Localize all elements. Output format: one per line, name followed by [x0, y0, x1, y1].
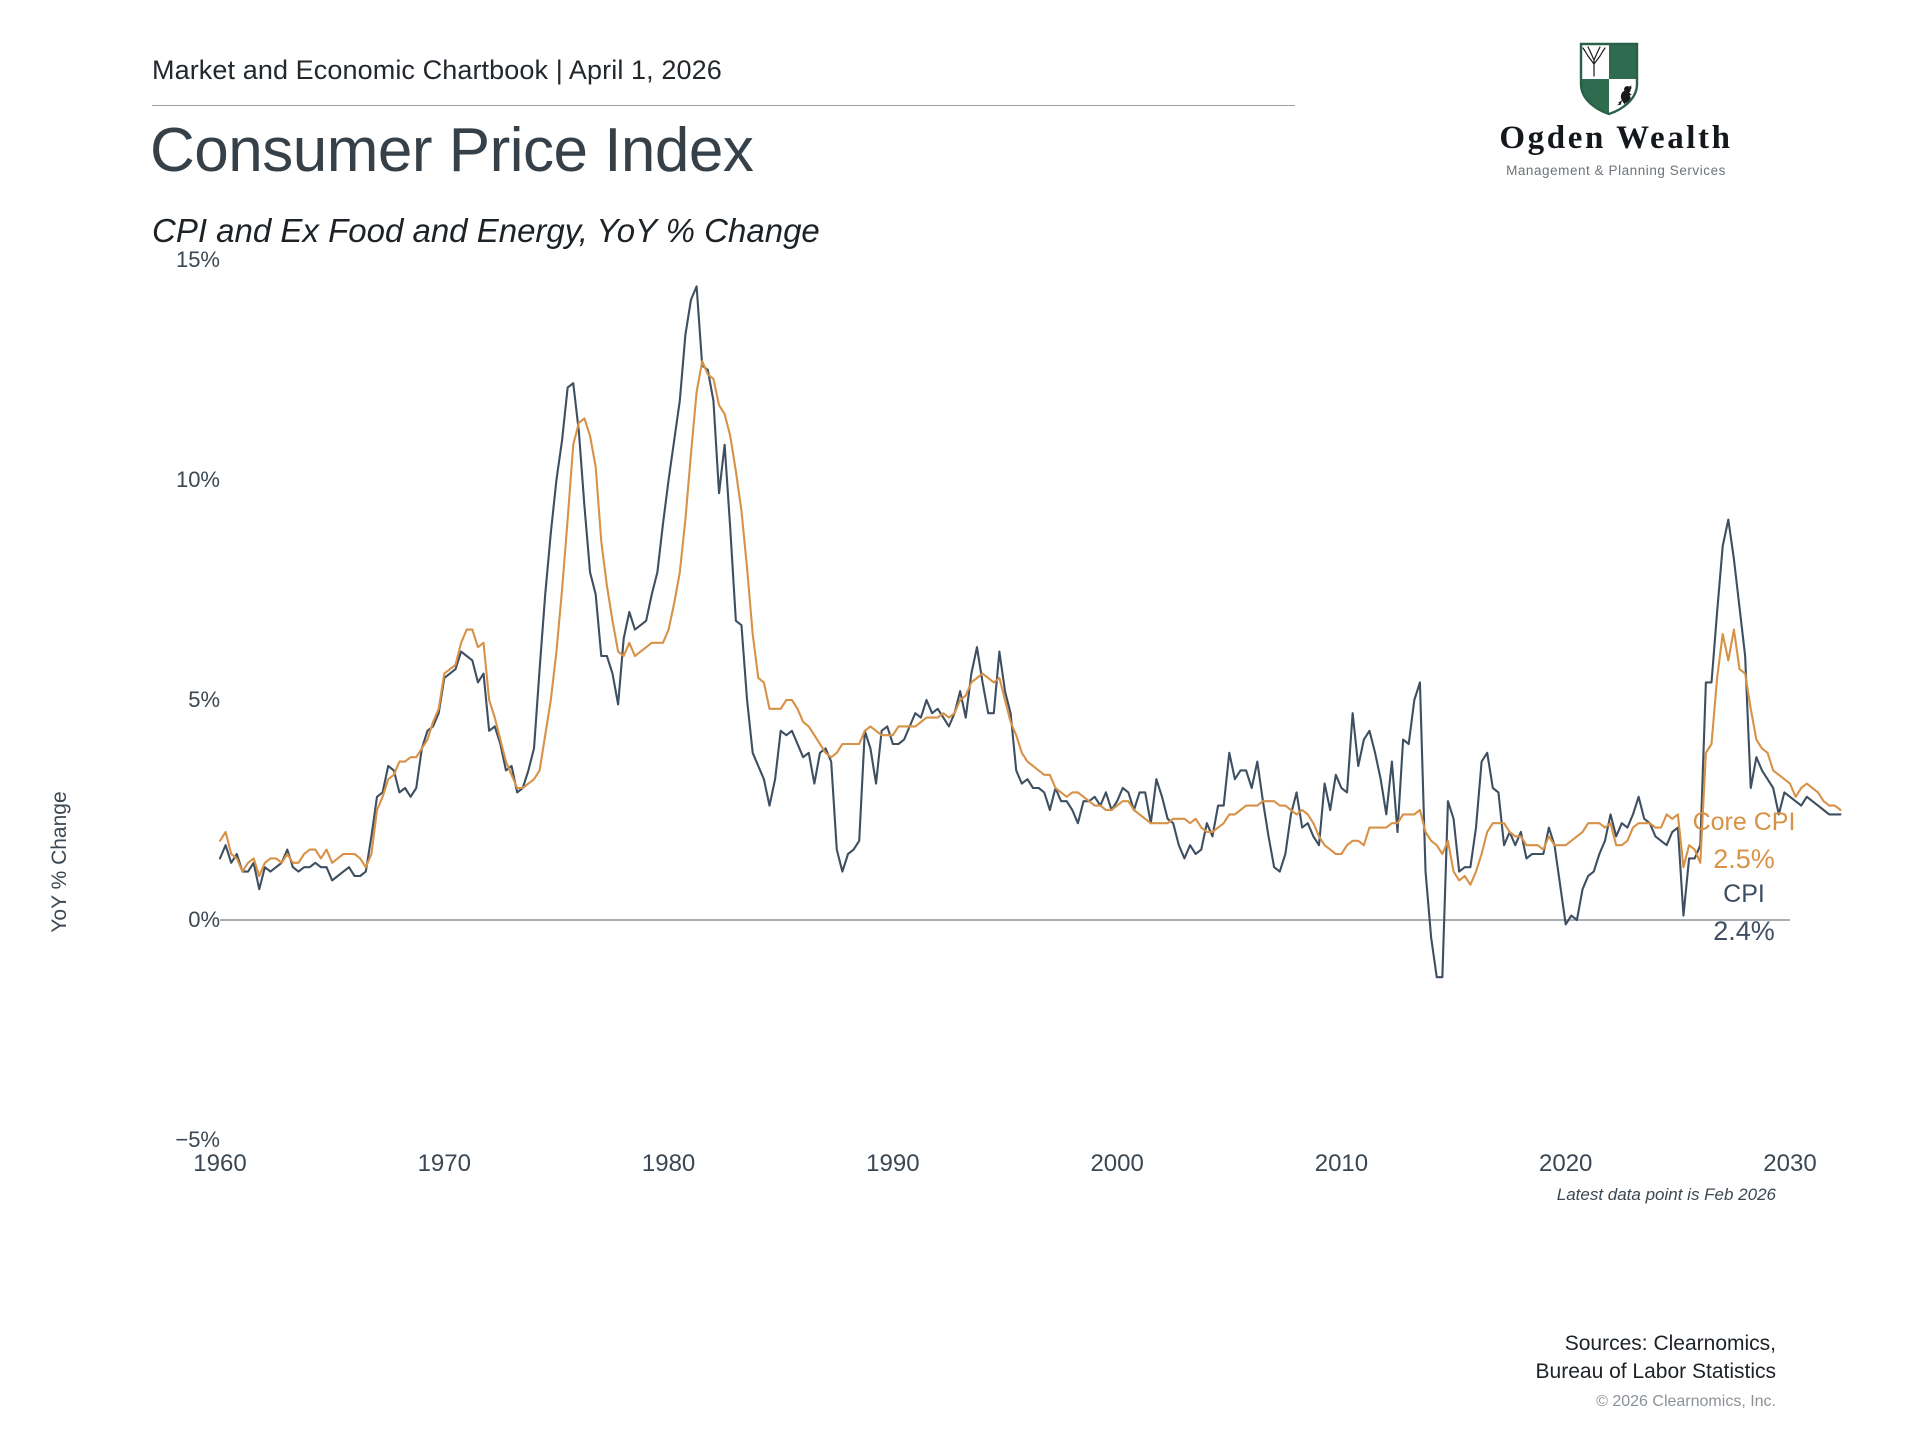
copyright-text: © 2026 Clearnomics, Inc.: [1276, 1393, 1776, 1411]
sources-line-1: Sources: Clearnomics,: [1276, 1330, 1776, 1358]
logo-company-name: Ogden Wealth: [1466, 120, 1766, 157]
shield-tree-lion-icon: [1579, 42, 1639, 116]
core-cpi-value: 2.5%: [1659, 844, 1829, 875]
x-tick-2010: 2010: [1315, 1150, 1368, 1178]
header-divider: [152, 105, 1295, 106]
cpi-label: CPI: [1659, 880, 1829, 909]
page-title: Consumer Price Index: [150, 120, 753, 182]
series-line-core-cpi: [220, 361, 1840, 885]
logo-tagline: Management & Planning Services: [1466, 163, 1766, 178]
page-subtitle: CPI and Ex Food and Energy, YoY % Change: [152, 212, 820, 250]
chartbook-header: Market and Economic Chartbook | April 1,…: [152, 55, 722, 86]
x-tick-1990: 1990: [866, 1150, 919, 1178]
cpi-value: 2.4%: [1659, 916, 1829, 947]
core-cpi-label: Core CPI: [1659, 808, 1829, 837]
chart-area: YoY % Change −5%0%5%10%15% 1960197019801…: [0, 250, 1920, 1130]
x-tick-2000: 2000: [1090, 1150, 1143, 1178]
sources-line-2: Bureau of Labor Statistics: [1276, 1358, 1776, 1386]
sources-block: Sources: Clearnomics, Bureau of Labor St…: [1276, 1330, 1776, 1385]
cpi-line-plot: [0, 250, 1920, 1130]
x-tick-2030: 2030: [1763, 1150, 1816, 1178]
x-tick-1980: 1980: [642, 1150, 695, 1178]
latest-data-note: Latest data point is Feb 2026: [1516, 1185, 1776, 1205]
series-line-cpi: [220, 286, 1840, 977]
x-tick-1960: 1960: [193, 1150, 246, 1178]
chart-page: Market and Economic Chartbook | April 1,…: [0, 0, 1920, 1440]
x-tick-2020: 2020: [1539, 1150, 1592, 1178]
company-logo: Ogden Wealth Management & Planning Servi…: [1466, 42, 1766, 182]
x-tick-1970: 1970: [418, 1150, 471, 1178]
